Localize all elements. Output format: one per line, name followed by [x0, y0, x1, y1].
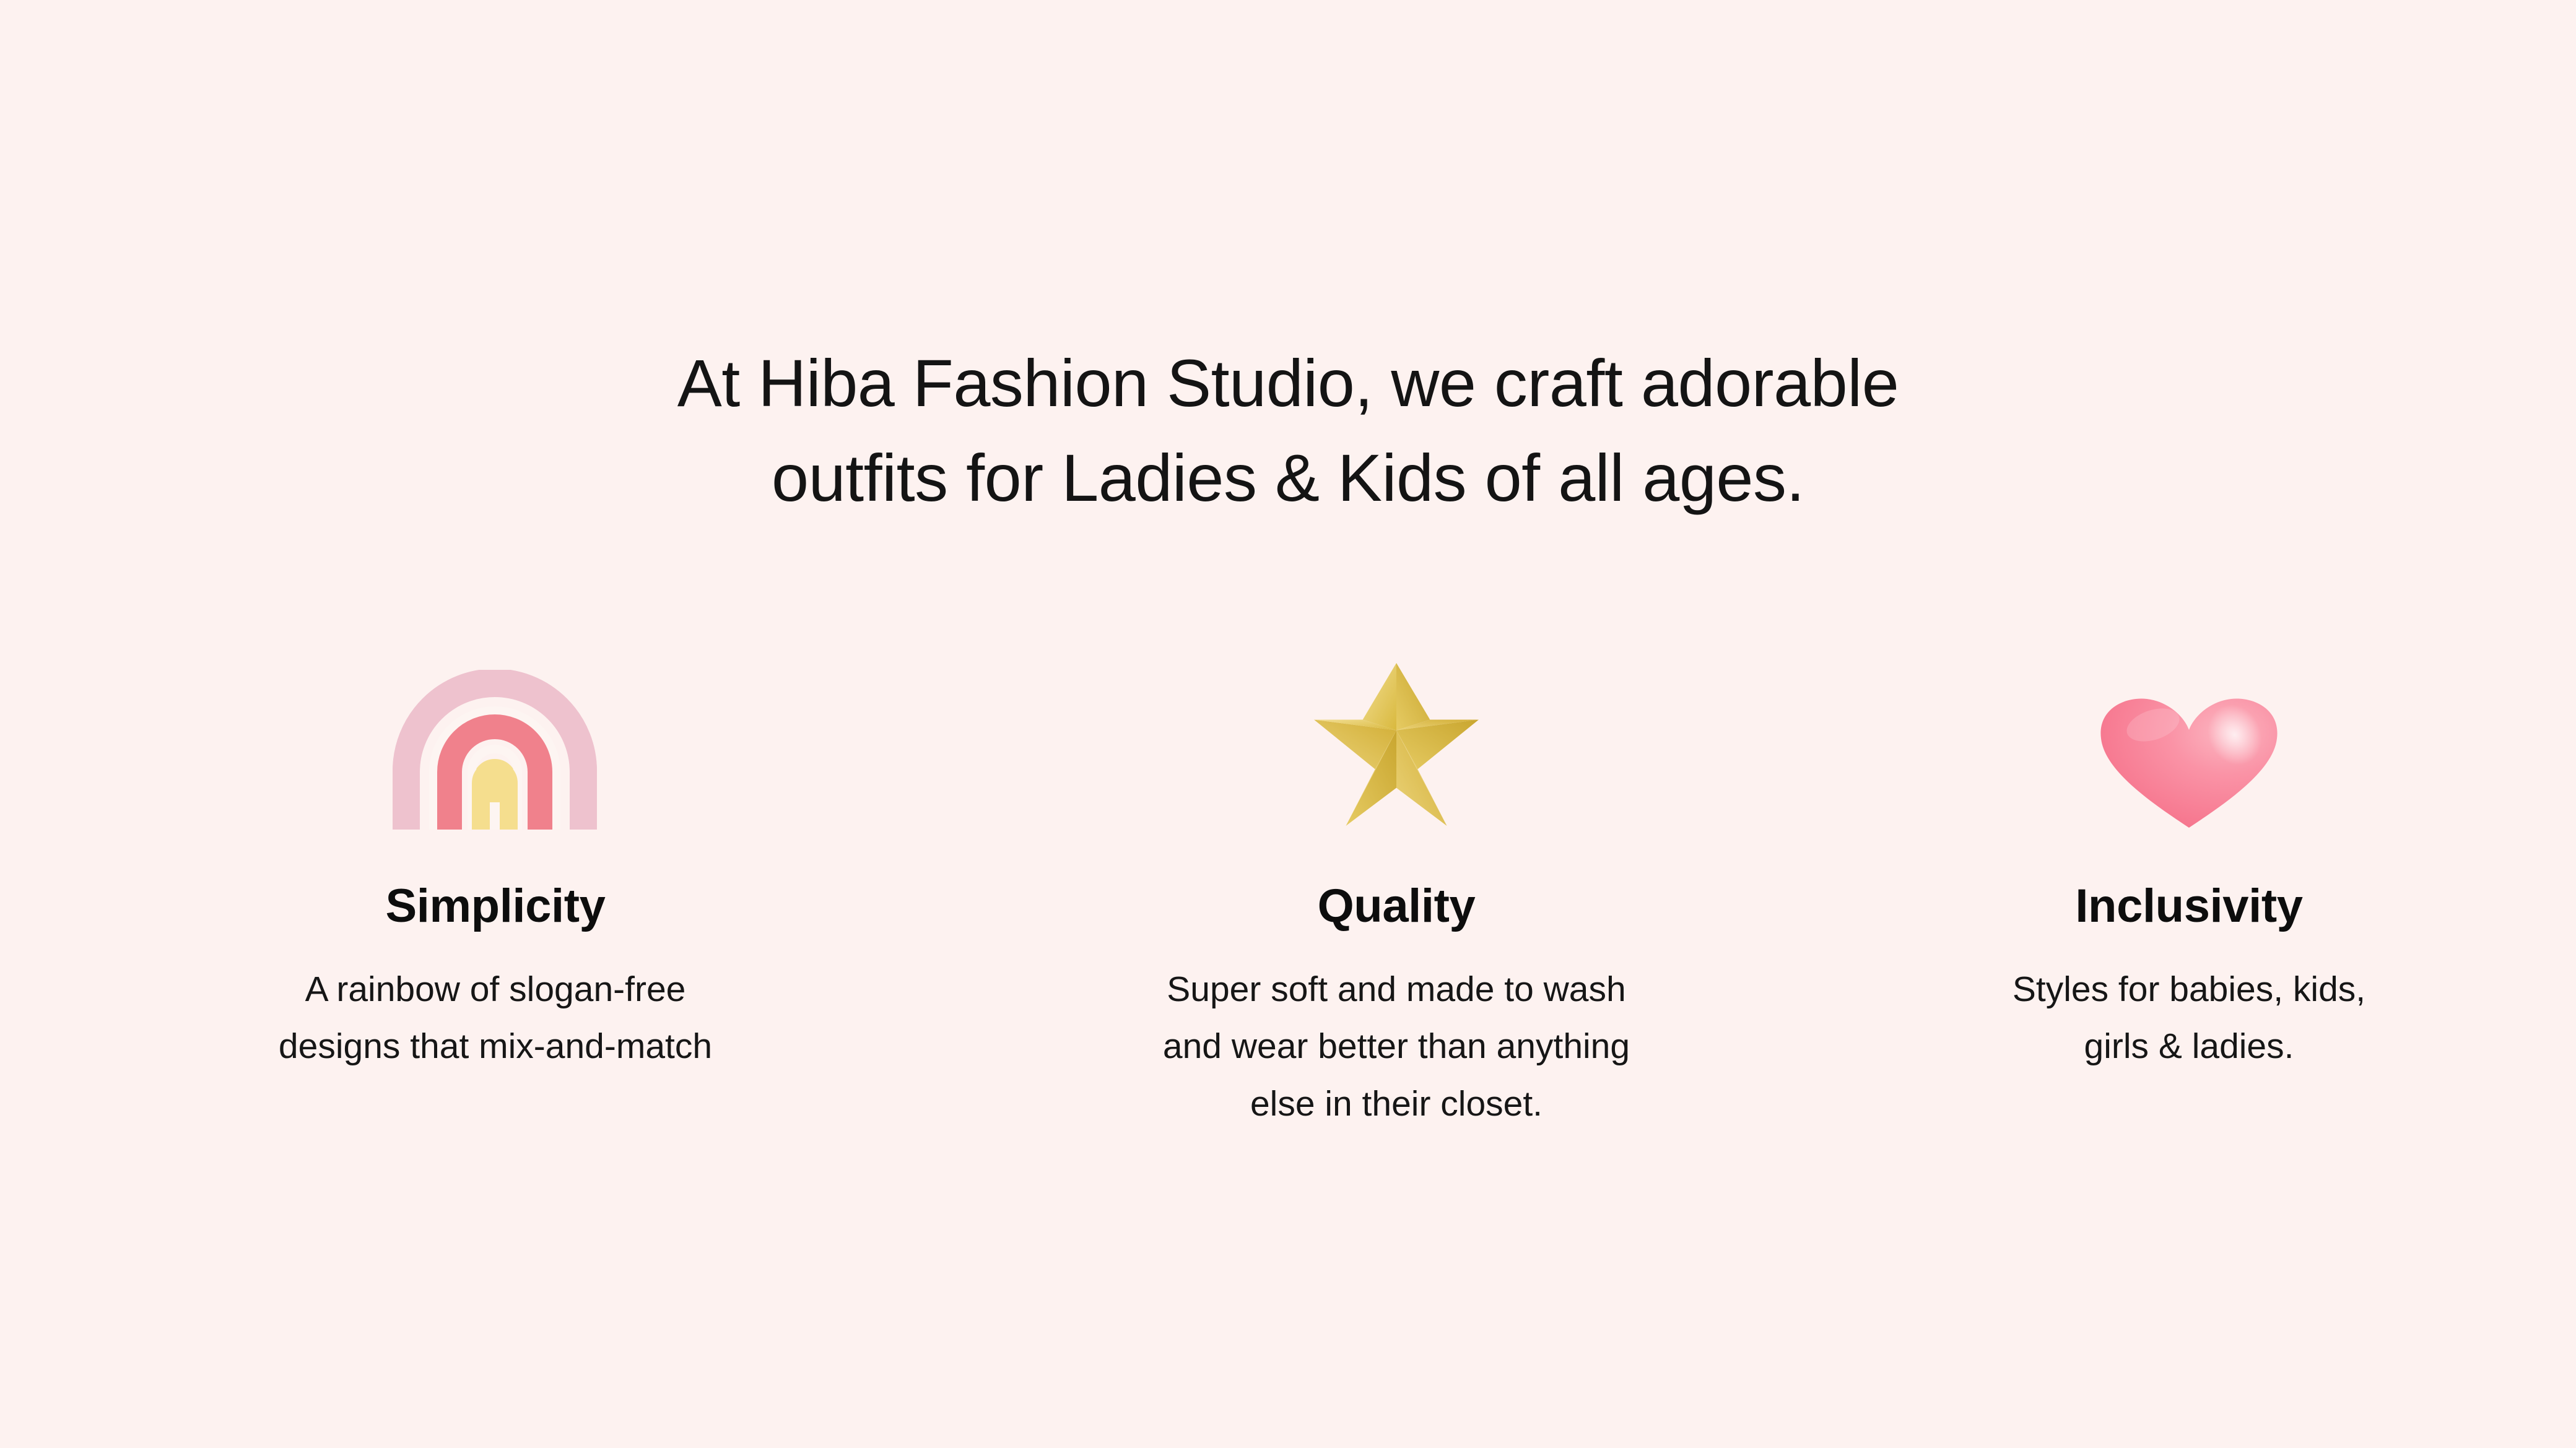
feature-title: Simplicity: [386, 883, 606, 930]
feature-description: Styles for babies, kids, girls & ladies.: [2012, 961, 2365, 1075]
feature-description: A rainbow of slogan-free designs that mi…: [279, 961, 712, 1075]
feature-item-quality: Quality Super soft and made to wash and …: [991, 644, 1802, 1132]
heart-icon-wrapper: [2096, 644, 2282, 830]
rainbow-icon: [393, 670, 597, 830]
star-icon-wrapper: [1308, 644, 1485, 830]
feature-item-inclusivity: Inclusivity Styles for babies, kids, gir…: [1802, 644, 2576, 1075]
feature-description: Super soft and made to wash and wear bet…: [1163, 961, 1630, 1132]
heart-icon: [2096, 696, 2282, 830]
feature-title: Quality: [1318, 883, 1476, 930]
feature-title: Inclusivity: [2075, 883, 2302, 930]
rainbow-icon-wrapper: [393, 644, 597, 830]
star-icon: [1308, 659, 1485, 830]
promo-section: At Hiba Fashion Studio, we craft adorabl…: [0, 0, 2576, 1448]
feature-list: Simplicity A rainbow of slogan-free desi…: [0, 644, 2576, 1132]
feature-item-simplicity: Simplicity A rainbow of slogan-free desi…: [0, 644, 991, 1075]
page-title: At Hiba Fashion Studio, we craft adorabl…: [0, 336, 2576, 526]
